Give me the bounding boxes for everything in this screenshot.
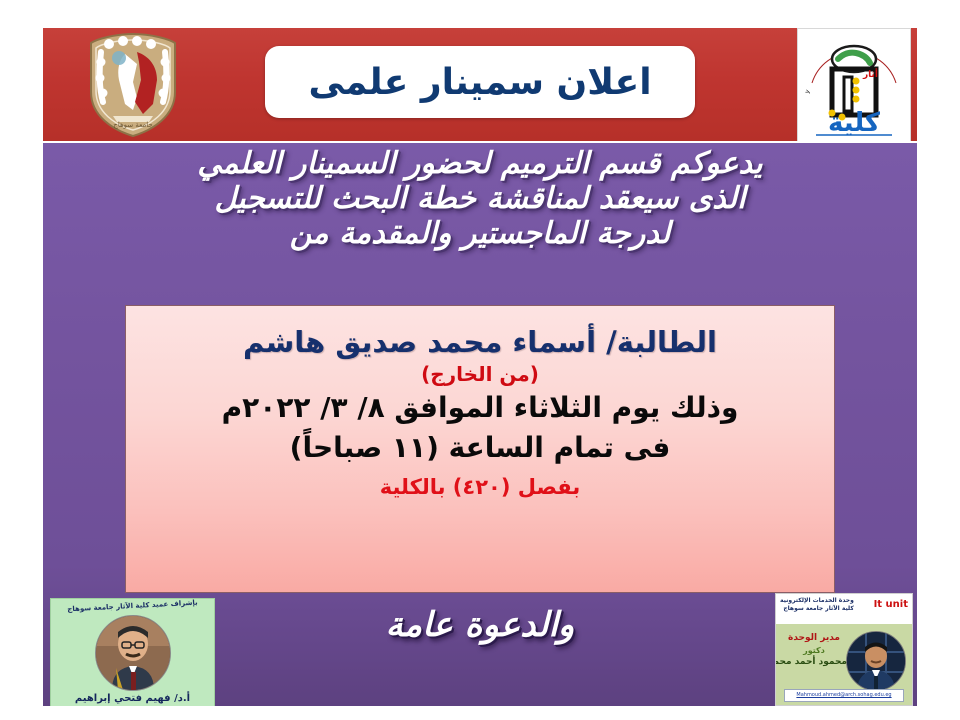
seminar-room: بفصل (٤٢٠) بالكلية [126,474,834,501]
it-unit-arabic-line-2: كلية الآثار جامعة سوهاج [780,605,854,613]
page-title: اعلان سمينار علمى [308,62,651,103]
seminar-time: فى تمام الساعة (١١ صباحاً) [126,430,834,466]
dean-avatar [95,615,171,691]
seminar-announcement-poster: جامعة سوهاج اعلان سمينار علمى Faculty of… [0,0,960,720]
dean-supervision-card: بإشراف عميد كلية الآثار جامعة سوهاج [50,598,215,706]
student-name: الطالبة/ أسماء محمد صديق هاشم [126,324,834,360]
seminar-date: وذلك يوم الثلاثاء الموافق ٨/ ٣/ ٢٠٢٢م [126,390,834,426]
external-student-tag: (من الخارج) [126,362,834,386]
header-banner: جامعة سوهاج اعلان سمينار علمى Faculty of… [43,28,917,141]
it-unit-arabic-line-1: وحدة الخدمات الإلكترونية [780,597,854,605]
poster-title-box: اعلان سمينار علمى [265,46,695,118]
svg-text:جامعة سوهاج: جامعة سوهاج [113,121,152,129]
it-card-body: مدير الوحدة دكتور محمود أحمد محمد Mahmou… [776,624,912,705]
intro-line-2: الذى سيعقد لمناقشة خطة البحث للتسجيل [61,182,899,217]
svg-text:أثار: أثار [862,68,878,80]
it-manager-name: محمود أحمد محمد [781,656,847,669]
dean-supervision-text: بإشراف عميد كلية الآثار جامعة سوهاج [51,598,214,614]
intro-line-1: يدعوكم قسم الترميم لحضور السمينار العلمي [61,147,899,182]
seminar-details-card: الطالبة/ أسماء محمد صديق هاشم (من الخارج… [125,305,835,593]
it-manager-details: مدير الوحدة دكتور محمود أحمد محمد [781,633,847,668]
it-manager-title: دكتور [781,645,847,656]
it-manager-role: مدير الوحدة [781,633,847,645]
intro-line-3: لدرجة الماجستير والمقدمة من [61,217,899,252]
it-unit-label: It unit [874,599,908,610]
it-manager-email-link[interactable]: Mahmoud.ahmed@arch.sohag.edu.eg [784,689,904,702]
it-unit-arabic-name: وحدة الخدمات الإلكترونية كلية الآثار جام… [780,597,854,612]
it-manager-avatar [846,631,906,691]
faculty-archaeology-logo-icon: Faculty of Archaeology كلية الآثار Sohag… [797,28,911,141]
intro-text-block: يدعوكم قسم الترميم لحضور السمينار العلمي… [43,147,917,251]
it-unit-card: It unit وحدة الخدمات الإلكترونية كلية ال… [775,593,913,706]
dean-name: أ.د/ فهيم فتحي إبراهيم [51,693,214,704]
svg-text:كلية: كلية [828,108,881,138]
poster-body: يدعوكم قسم الترميم لحضور السمينار العلمي… [43,143,917,706]
it-card-header: It unit وحدة الخدمات الإلكترونية كلية ال… [776,594,912,624]
university-emblem-icon: جامعة سوهاج [79,30,187,140]
